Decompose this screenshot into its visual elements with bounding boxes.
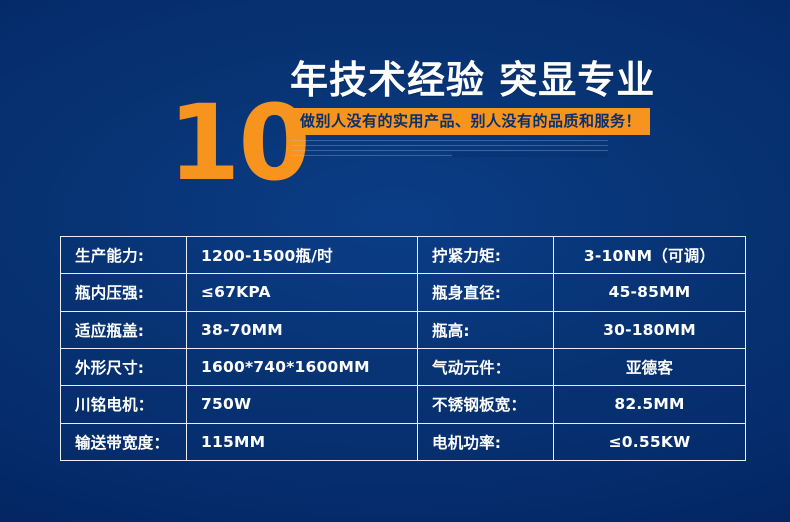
spec-table-body: 生产能力: 1200-1500瓶/时 拧紧力矩: 3-10NM（可调） 瓶内压强… — [61, 237, 746, 461]
spec-label: 拧紧力矩: — [418, 237, 554, 274]
spec-label: 适应瓶盖: — [61, 311, 187, 348]
headline-text: 年技术经验 突显专业 — [290, 58, 655, 103]
spec-label: 川铭电机： — [61, 386, 187, 423]
spec-value: ≤0.55KW — [554, 423, 746, 460]
promo-banner-page: 10 年技术经验 突显专业 做别人没有的实用产品、别人没有的品质和服务！ 生产能… — [0, 0, 790, 522]
spec-value: 45-85MM — [554, 274, 746, 311]
spec-value: 1200-1500瓶/时 — [187, 237, 418, 274]
table-row: 输送带宽度： 115MM 电机功率: ≤0.55KW — [61, 423, 746, 460]
spec-label: 气动元件： — [418, 348, 554, 385]
spec-label: 生产能力: — [61, 237, 187, 274]
table-row: 川铭电机： 750W 不锈钢板宽： 82.5MM — [61, 386, 746, 423]
spec-label: 瓶高: — [418, 311, 554, 348]
table-row: 瓶内压强: ≤67KPA 瓶身直径: 45-85MM — [61, 274, 746, 311]
spec-value: 115MM — [187, 423, 418, 460]
spec-value: 亚德客 — [554, 348, 746, 385]
spec-value: 750W — [187, 386, 418, 423]
table-row: 适应瓶盖: 38-70MM 瓶高: 30-180MM — [61, 311, 746, 348]
spec-label: 外形尺寸: — [61, 348, 187, 385]
fine-print-block — [292, 140, 608, 157]
spec-value: 1600*740*1600MM — [187, 348, 418, 385]
spec-label: 瓶身直径: — [418, 274, 554, 311]
years-number: 10 — [168, 91, 309, 195]
spec-value: ≤67KPA — [187, 274, 418, 311]
subtitle-text: 做别人没有的实用产品、别人没有的品质和服务！ — [300, 114, 641, 129]
banner-header: 10 年技术经验 突显专业 做别人没有的实用产品、别人没有的品质和服务！ — [0, 44, 790, 164]
spec-value: 30-180MM — [554, 311, 746, 348]
spec-label: 输送带宽度： — [61, 423, 187, 460]
specification-table: 生产能力: 1200-1500瓶/时 拧紧力矩: 3-10NM（可调） 瓶内压强… — [60, 236, 746, 461]
spec-label: 不锈钢板宽： — [418, 386, 554, 423]
spec-label: 电机功率: — [418, 423, 554, 460]
spec-value: 82.5MM — [554, 386, 746, 423]
spec-value: 38-70MM — [187, 311, 418, 348]
table-row: 外形尺寸: 1600*740*1600MM 气动元件： 亚德客 — [61, 348, 746, 385]
subtitle-highlight-bar: 做别人没有的实用产品、别人没有的品质和服务！ — [291, 108, 650, 135]
spec-value: 3-10NM（可调） — [554, 237, 746, 274]
spec-label: 瓶内压强: — [61, 274, 187, 311]
table-row: 生产能力: 1200-1500瓶/时 拧紧力矩: 3-10NM（可调） — [61, 237, 746, 274]
